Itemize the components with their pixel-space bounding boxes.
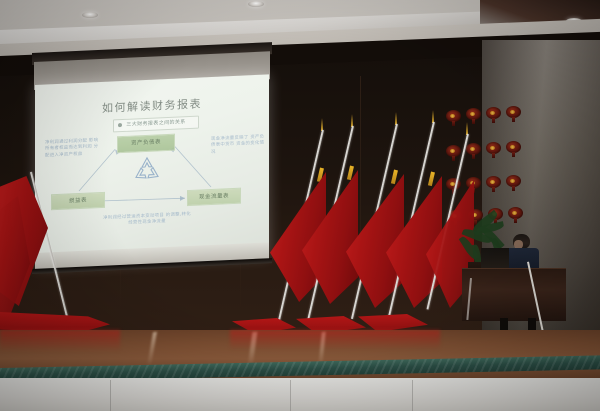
floor-reflection (0, 330, 120, 352)
auditorium-scene: 如何解读财务报表 三大财务报表之间的关系 资产负债表 损益表 现金流量表 (0, 0, 600, 411)
downlight-icon (248, 1, 264, 7)
slide-content: 如何解读财务报表 三大财务报表之间的关系 资产负债表 损益表 现金流量表 (35, 74, 269, 267)
recycle-arrows-icon (133, 155, 161, 182)
floor-tile-seam (412, 380, 413, 411)
podium (462, 268, 566, 321)
diagram-node-cash-flow-statement: 现金流量表 (187, 188, 241, 206)
floor-tile-seam (110, 380, 111, 411)
laptop (481, 248, 509, 268)
floor-tile-seam (290, 380, 291, 411)
diagram-node-income-statement: 损益表 (51, 192, 105, 210)
projection-screen: 如何解读财务报表 三大财务报表之间的关系 资产负债表 损益表 现金流量表 (32, 53, 272, 281)
annotation-left: 净利润通过利润分配 影响所有者权益而达到利润 分配进入净资产权益 (45, 138, 101, 160)
annotation-right: 现金净流量反映了 资产负债表中货币 资金的变化情况 (211, 135, 265, 157)
floor-reflection (230, 330, 440, 350)
downlight-icon (82, 12, 98, 18)
diagram-node-balance-sheet: 资产负债表 (117, 134, 175, 154)
lower-floor (0, 378, 600, 411)
